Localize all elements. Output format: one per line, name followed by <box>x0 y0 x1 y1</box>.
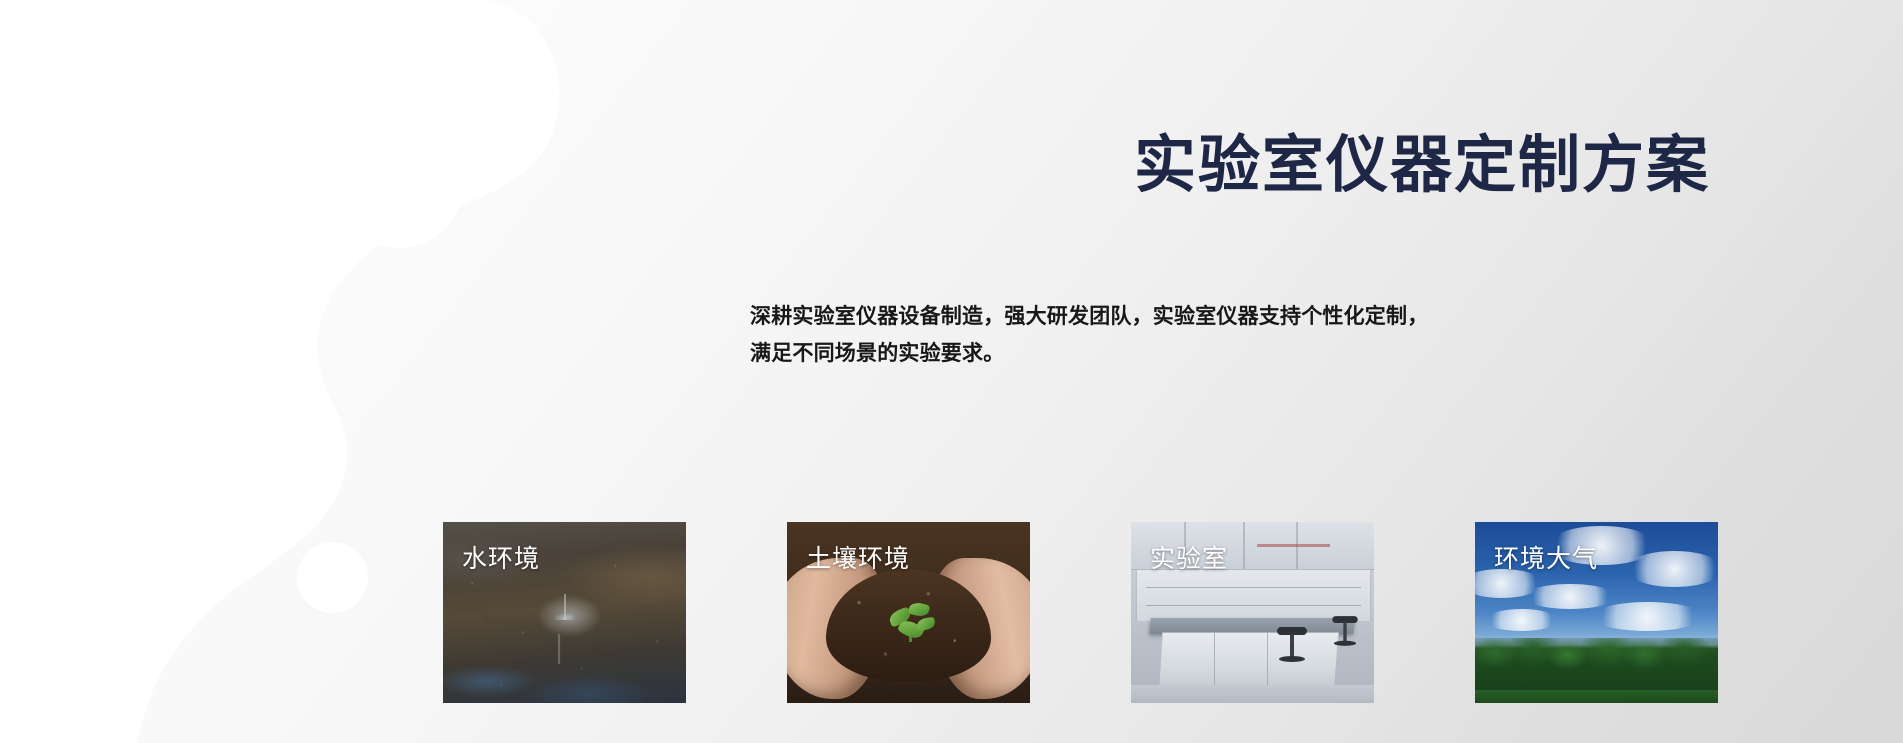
category-card-water[interactable]: 水环境 <box>443 522 686 703</box>
hero-subtitle-line-1: 深耕实验室仪器设备制造，强大研发团队，实验室仪器支持个性化定制， <box>750 298 1710 335</box>
lab-bench-divider <box>1267 632 1268 690</box>
grass-strip <box>1475 690 1718 703</box>
lab-ceiling-pipe <box>1257 544 1330 547</box>
page-title: 实验室仪器定制方案 <box>700 130 1710 202</box>
lab-shelf <box>1146 587 1361 588</box>
stool-base <box>1334 640 1356 645</box>
lab-ceiling-beam <box>1243 522 1245 569</box>
lab-stool <box>1333 616 1359 652</box>
lab-floor <box>1131 685 1374 703</box>
cloud-shape <box>1592 602 1704 631</box>
lab-bench-cabinets <box>1158 632 1339 692</box>
category-card-label: 水环境 <box>462 544 540 574</box>
lab-bench-divider <box>1214 632 1215 690</box>
hero-banner: 实验室仪器定制方案 深耕实验室仪器设备制造，强大研发团队，实验室仪器支持个性化定… <box>0 0 1903 743</box>
category-card-label: 土壤环境 <box>806 544 910 574</box>
category-card-laboratory[interactable]: 实验室 <box>1131 522 1374 703</box>
cloud-shape <box>1485 609 1558 631</box>
lab-stool <box>1277 627 1307 669</box>
sprout-leaf <box>907 601 930 618</box>
seedling-sprout <box>887 598 941 646</box>
lab-back-cabinets <box>1136 569 1371 622</box>
lab-shelf <box>1146 605 1361 606</box>
category-card-atmosphere[interactable]: 环境大气 <box>1475 522 1718 703</box>
category-card-label: 实验室 <box>1150 544 1228 574</box>
cloud-shape <box>1524 584 1616 609</box>
hero-subtitle-line-2: 满足不同场景的实验要求。 <box>750 335 1710 372</box>
sprout-leaf <box>916 617 935 631</box>
water-splash-reflection <box>547 634 571 664</box>
stool-post <box>1290 634 1294 658</box>
water-splash-crown <box>550 594 580 620</box>
cloud-shape <box>1626 551 1718 587</box>
stool-post <box>1344 622 1347 642</box>
category-card-label: 环境大气 <box>1494 544 1598 574</box>
stool-base <box>1279 656 1305 662</box>
category-card-soil[interactable]: 土壤环境 <box>787 522 1030 703</box>
category-card-list: 水环境 土壤环境 <box>443 522 1703 703</box>
hero-subtitle: 深耕实验室仪器设备制造，强大研发团队，实验室仪器支持个性化定制， 满足不同场景的… <box>750 298 1710 372</box>
